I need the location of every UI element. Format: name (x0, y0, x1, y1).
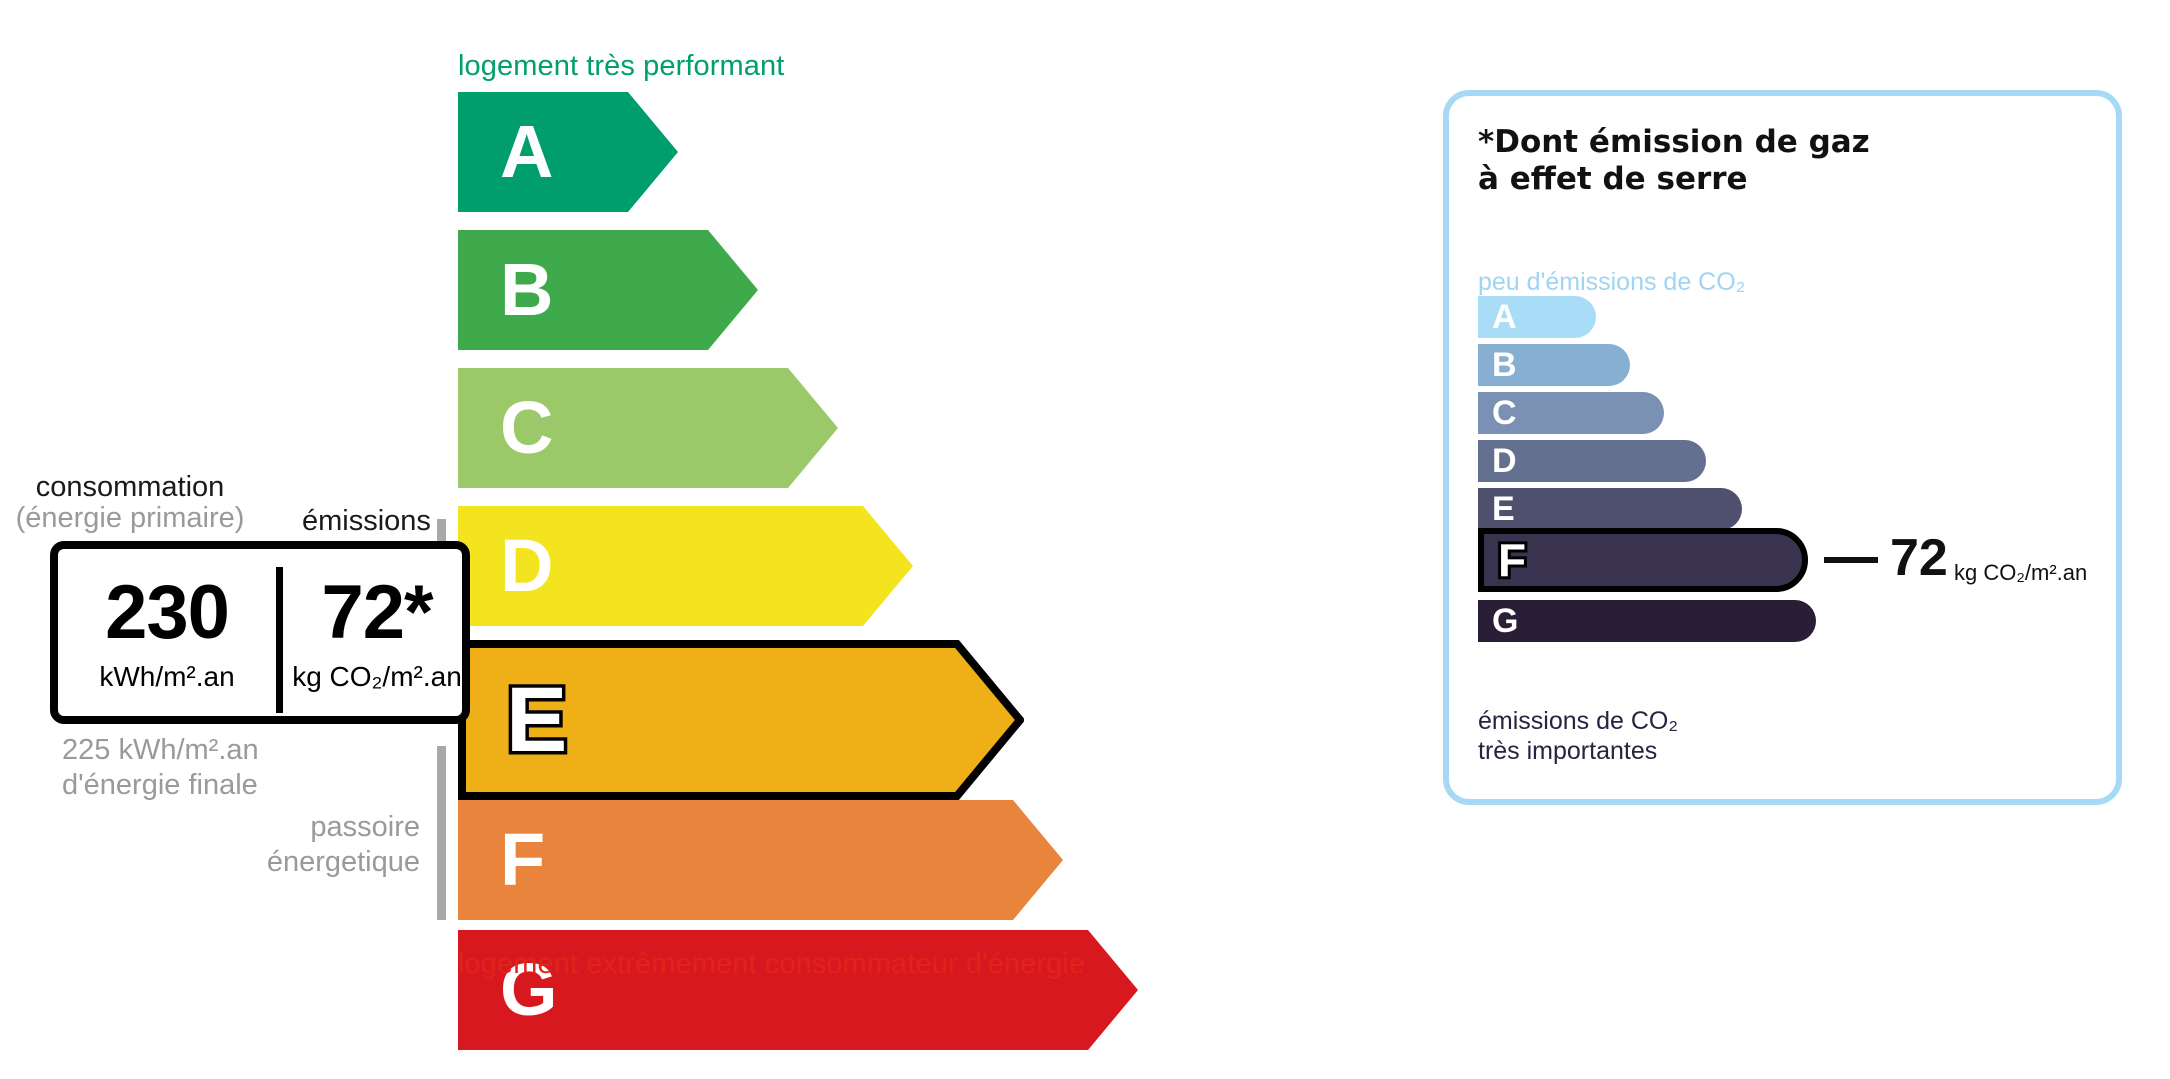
energy-arrow-shape-a (458, 92, 678, 217)
co2-leader-line (1824, 557, 1878, 563)
co2-bottom-line2: très importantes (1478, 737, 1657, 765)
energy-bar-letter-d: D (500, 529, 553, 603)
passoire-line2: énergetique (267, 846, 420, 878)
passoire-line1: passoire (310, 811, 420, 843)
co2-bottom-line1: émissions de CO₂ (1478, 707, 1678, 735)
dpe-canvas: logement très performant ABCDEFG consomm… (0, 0, 2170, 1079)
co2-title-line1: *Dont émission de gaz (1478, 124, 1870, 160)
energy-bar-letter-b: B (500, 253, 553, 327)
co2-unit: kg CO₂/m².an (1954, 562, 2087, 584)
consumption-label-group: consommation (énergie primaire) (0, 472, 260, 535)
emission-value: 72* (283, 575, 471, 651)
energy-bar-c: C (458, 368, 838, 488)
co2-bar-list: ABCDEFG72kg CO₂/m².an (1478, 296, 2108, 676)
co2-panel-title: *Dont émission de gaz à effet de serre (1478, 124, 1870, 197)
energy-arrow-shape-f (458, 800, 1063, 925)
energy-bar-a: A (458, 92, 678, 212)
passoire-marker-top (437, 519, 446, 541)
emission-unit: kg CO₂/m².an (283, 663, 471, 691)
co2-bar-g: G (1478, 600, 1816, 642)
co2-top-caption: peu d'émissions de CO₂ (1478, 268, 1745, 297)
energy-bar-b: B (458, 230, 758, 350)
co2-bar-letter-e: E (1492, 492, 1515, 526)
co2-bar-e: E (1478, 488, 1742, 530)
co2-bar-c: C (1478, 392, 1664, 434)
consumption-sublabel: (énergie primaire) (0, 503, 260, 534)
final-energy-note: 225 kWh/m².an d'énergie finale (62, 733, 259, 804)
energy-bar-letter-e: E (506, 674, 567, 766)
co2-bar-d: D (1478, 440, 1706, 482)
energy-bar-letter-c: C (500, 391, 553, 465)
energy-bar-e: E (458, 640, 1024, 800)
co2-bar-f: F (1478, 528, 1808, 592)
consumption-cell: 230 kWh/m².an (58, 549, 276, 716)
final-energy-line2: d'énergie finale (62, 769, 258, 801)
energy-bottom-caption: logement extrêmement consommateur d'éner… (458, 948, 1085, 981)
value-box-divider (276, 567, 283, 713)
co2-bar-letter-b: B (1492, 348, 1517, 382)
co2-bottom-caption: émissions de CO₂ très importantes (1478, 706, 1678, 766)
co2-bar-letter-f: F (1498, 537, 1526, 583)
consumption-label: consommation (36, 471, 225, 503)
co2-bar-letter-c: C (1492, 396, 1517, 430)
co2-bar-b: B (1478, 344, 1630, 386)
consumption-value: 230 (58, 575, 276, 651)
co2-bar-letter-d: D (1492, 444, 1517, 478)
energy-bar-d: D (458, 506, 913, 626)
emissions-label: émissions (302, 505, 431, 538)
final-energy-line1: 225 kWh/m².an (62, 734, 259, 766)
co2-value: 72 (1890, 532, 1948, 584)
consumption-unit: kWh/m².an (58, 663, 276, 691)
value-box: 230 kWh/m².an 72* kg CO₂/m².an (50, 541, 470, 724)
passoire-note: passoire énergetique (170, 810, 420, 881)
co2-bar-a: A (1478, 296, 1596, 338)
energy-bar-f: F (458, 800, 1063, 920)
energy-performance-chart: logement très performant ABCDEFG consomm… (0, 0, 1400, 1079)
co2-bar-letter-g: G (1492, 604, 1518, 638)
co2-bar-letter-a: A (1492, 300, 1517, 334)
energy-bar-letter-a: A (500, 115, 553, 189)
energy-bar-list: ABCDEFG (0, 0, 1400, 1079)
emission-cell: 72* kg CO₂/m².an (283, 549, 471, 716)
energy-bar-letter-f: F (500, 823, 545, 897)
co2-title-line2: à effet de serre (1478, 161, 1748, 197)
passoire-marker (437, 746, 446, 920)
co2-panel: *Dont émission de gaz à effet de serre p… (1443, 90, 2122, 805)
